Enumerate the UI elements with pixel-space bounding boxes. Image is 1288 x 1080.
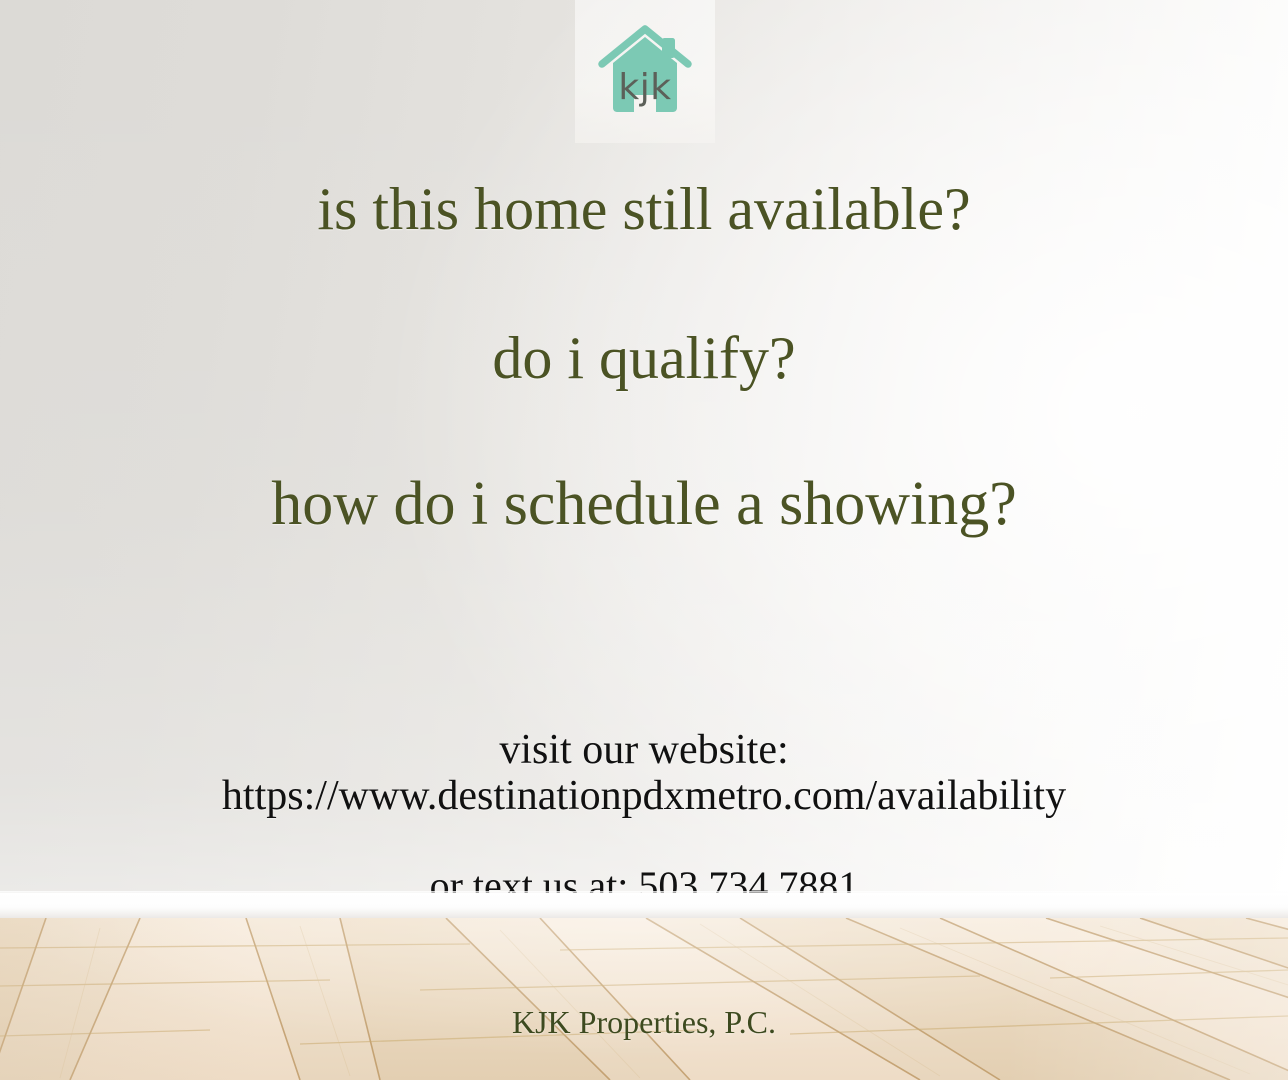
footer-company-name: KJK Properties, P.C. bbox=[0, 1003, 1288, 1041]
logo-wordmark: kjk bbox=[596, 70, 694, 106]
headline-qualify: do i qualify? bbox=[0, 325, 1288, 391]
visit-website-label: visit our website: bbox=[0, 726, 1288, 776]
baseboard bbox=[0, 893, 1288, 919]
wood-floor bbox=[0, 918, 1288, 1080]
floor-planks bbox=[0, 918, 1288, 1080]
headline-schedule-showing: how do i schedule a showing? bbox=[0, 470, 1288, 538]
headline-available: is this home still available? bbox=[0, 176, 1288, 242]
brand-logo[interactable]: kjk bbox=[596, 22, 694, 122]
promo-graphic: kjk is this home still available? do i q… bbox=[0, 0, 1288, 1080]
website-url-link[interactable]: https://www.destinationpdxmetro.com/avai… bbox=[0, 772, 1288, 822]
